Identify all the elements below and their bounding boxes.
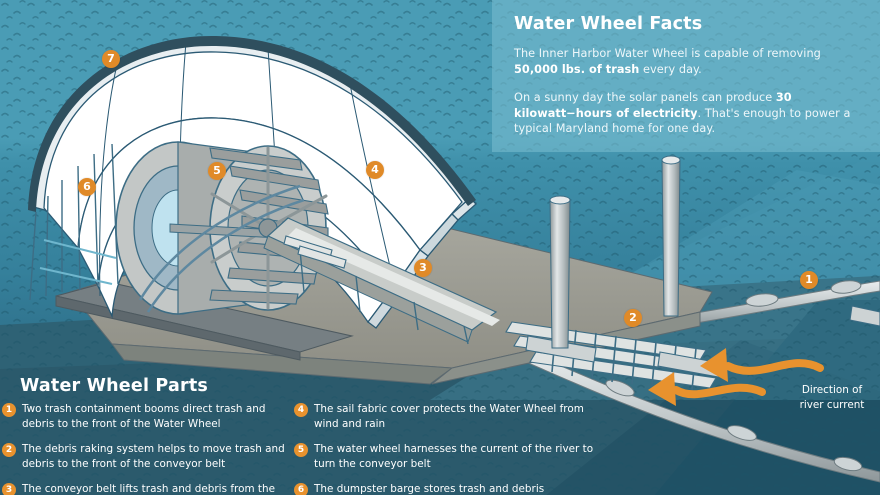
parts-list-item[interactable]: 5The water wheel harnesses the current o… <box>294 442 594 471</box>
parts-title: Water Wheel Parts <box>20 376 208 396</box>
parts-item-number: 5 <box>294 443 308 457</box>
parts-list-right: 4The sail fabric cover protects the Wate… <box>294 402 594 495</box>
callout-marker-7[interactable]: 7 <box>102 50 120 68</box>
parts-item-text: Two trash containment booms direct trash… <box>22 402 290 431</box>
parts-item-number: 1 <box>2 403 16 417</box>
parts-list-item[interactable]: 2The debris raking system helps to move … <box>2 442 290 471</box>
parts-item-text: The dumpster barge stores trash and debr… <box>314 482 594 495</box>
callout-marker-5[interactable]: 5 <box>208 162 226 180</box>
parts-item-number: 4 <box>294 403 308 417</box>
river-current-line2: river current <box>784 398 880 413</box>
parts-list-item[interactable]: 4The sail fabric cover protects the Wate… <box>294 402 594 431</box>
facts-text: On a sunny day the solar panels can prod… <box>514 91 776 104</box>
parts-list-item[interactable]: 6The dumpster barge stores trash and deb… <box>294 482 594 495</box>
mast-front <box>550 196 570 348</box>
parts-item-text: The debris raking system helps to move t… <box>22 442 290 471</box>
parts-item-number: 3 <box>2 483 16 495</box>
river-current-label: Direction of river current <box>784 383 880 412</box>
facts-title: Water Wheel Facts <box>514 14 856 34</box>
parts-list-item[interactable]: 3The conveyor belt lifts trash and debri… <box>2 482 290 495</box>
callout-marker-3[interactable]: 3 <box>414 259 432 277</box>
parts-item-text: The sail fabric cover protects the Water… <box>314 402 594 431</box>
facts-paragraph-2: On a sunny day the solar panels can prod… <box>514 90 856 137</box>
mast-back <box>662 156 680 316</box>
facts-body: The Inner Harbor Water Wheel is capable … <box>514 46 856 137</box>
infographic-water-wheel: Water Wheel Facts The Inner Harbor Water… <box>0 0 880 495</box>
facts-text: every day. <box>639 63 701 76</box>
parts-item-text: The conveyor belt lifts trash and debris… <box>22 482 290 495</box>
callout-marker-2[interactable]: 2 <box>624 309 642 327</box>
river-current-line1: Direction of <box>784 383 880 398</box>
parts-item-number: 6 <box>294 483 308 495</box>
callout-marker-4[interactable]: 4 <box>366 161 384 179</box>
facts-panel: Water Wheel Facts The Inner Harbor Water… <box>492 0 880 152</box>
facts-paragraph-1: The Inner Harbor Water Wheel is capable … <box>514 46 856 77</box>
parts-list-item[interactable]: 1Two trash containment booms direct tras… <box>2 402 290 431</box>
facts-text: The Inner Harbor Water Wheel is capable … <box>514 47 821 60</box>
parts-list-left: 1Two trash containment booms direct tras… <box>2 402 290 495</box>
callout-marker-1[interactable]: 1 <box>800 271 818 289</box>
parts-item-text: The water wheel harnesses the current of… <box>314 442 594 471</box>
parts-item-number: 2 <box>2 443 16 457</box>
facts-highlight: 50,000 lbs. of trash <box>514 63 639 76</box>
callout-marker-6[interactable]: 6 <box>78 178 96 196</box>
